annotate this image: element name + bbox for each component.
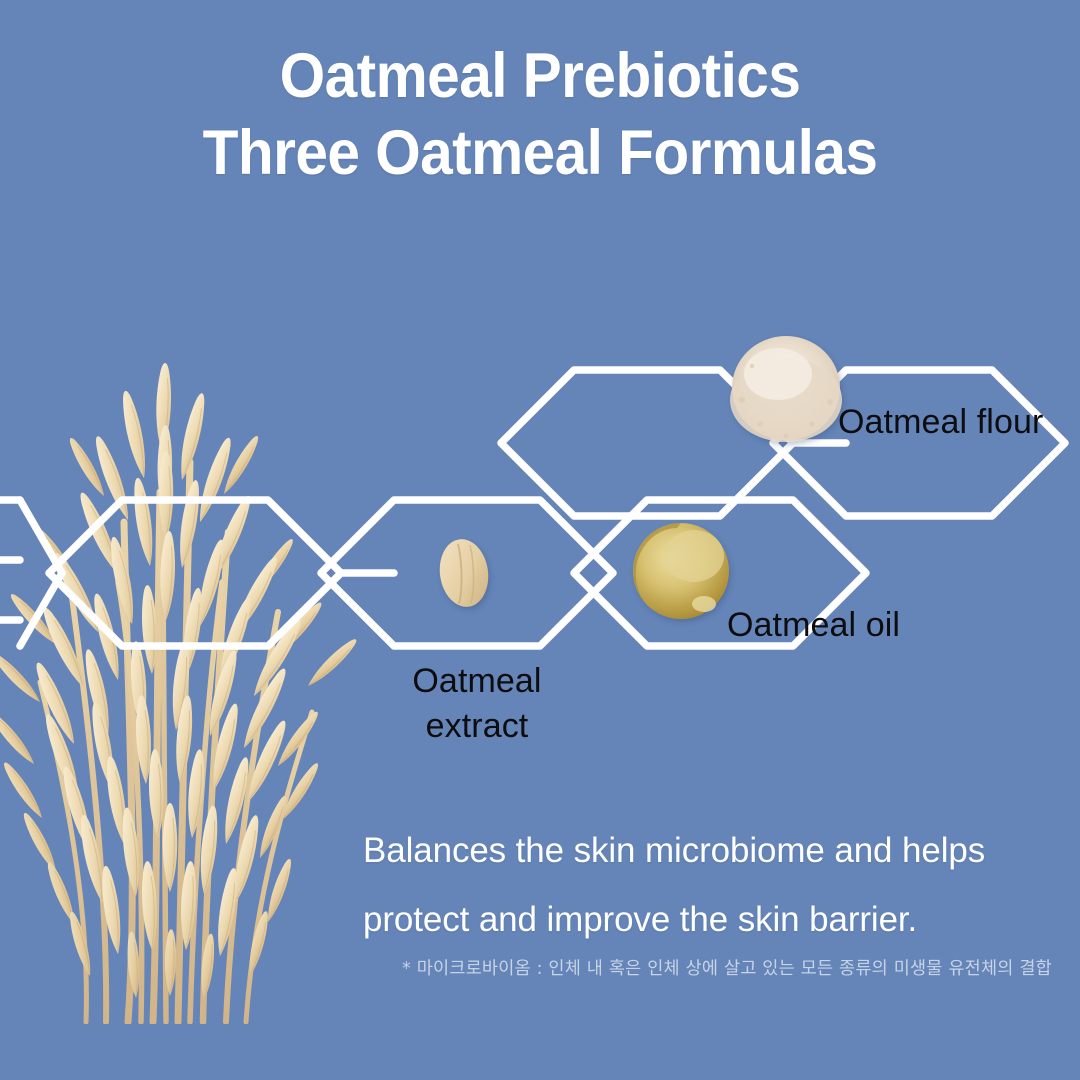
footnote-microbiome: * 마이크로바이옴 : 인체 내 혹은 인체 상에 살고 있는 모든 종류의 미… [402, 955, 1080, 980]
body-line-1: Balances the skin microbiome and helps [363, 816, 1080, 885]
body-description: Balances the skin microbiome and helps p… [363, 816, 1080, 953]
label-oatmeal-extract: Oatmeal extract [402, 659, 552, 749]
oat-bundle-illustration [0, 282, 378, 1024]
label-oatmeal-flour: Oatmeal flour [838, 400, 1043, 445]
promo-graphic: Oatmeal Prebiotics Three Oatmeal Formula… [0, 0, 1080, 1080]
oat-plant-photo [0, 282, 378, 1024]
label-oatmeal-oil: Oatmeal oil [727, 603, 900, 648]
body-line-2: protect and improve the skin barrier. [363, 885, 1080, 954]
